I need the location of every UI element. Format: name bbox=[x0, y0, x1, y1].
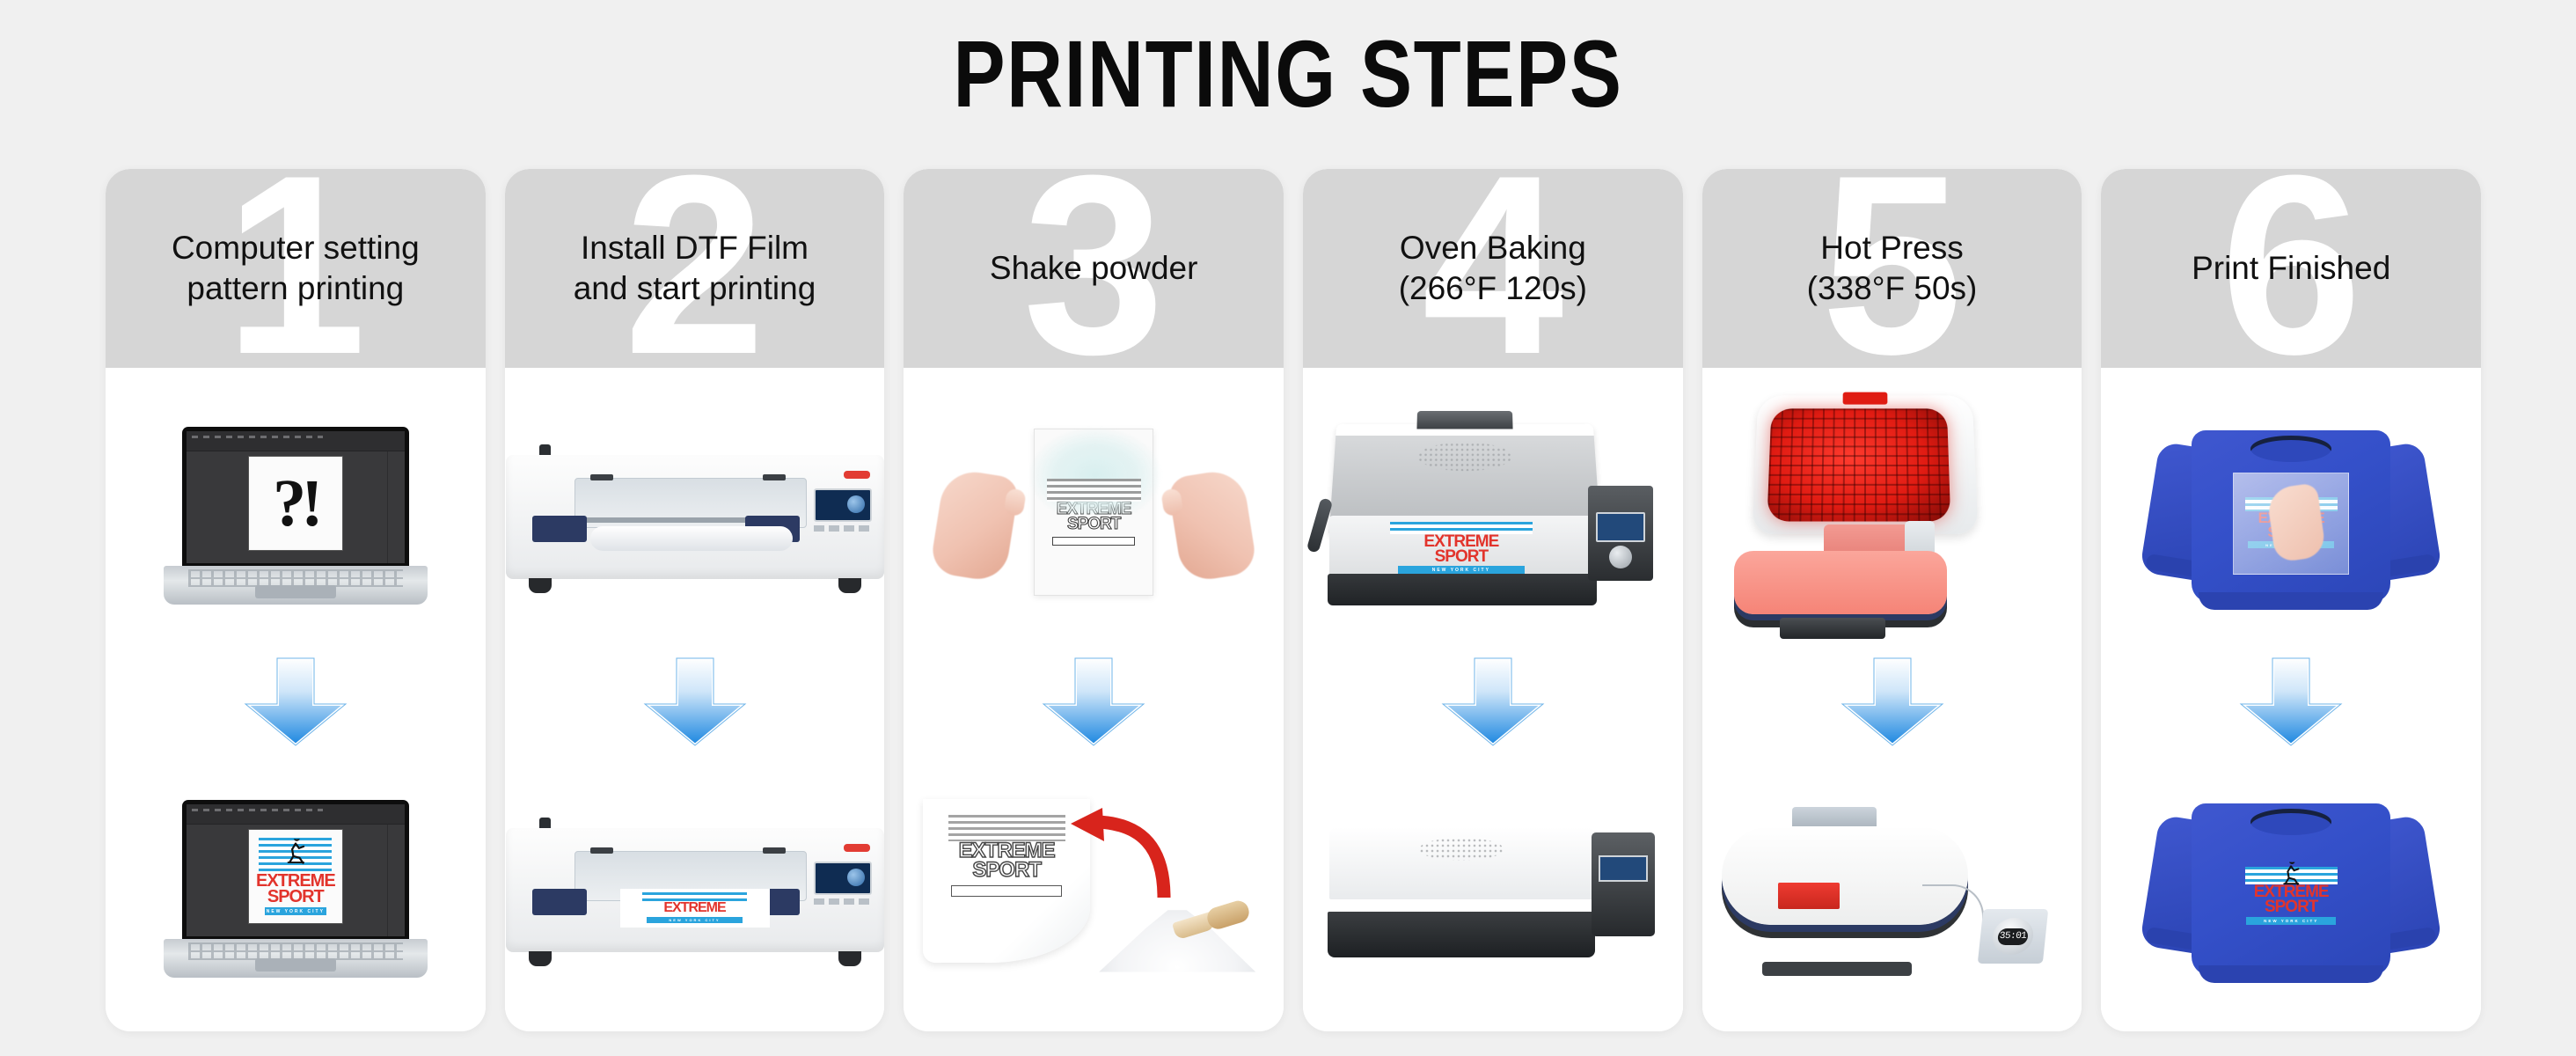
step-card-3: 3 Shake powder EXTREME SPORT bbox=[904, 169, 1284, 1031]
step-body-2: EXTREME NEW YORK CITY bbox=[505, 368, 885, 1031]
app-side-panel bbox=[387, 451, 405, 563]
heat-press-open-illustration bbox=[1702, 378, 2082, 653]
step-title-4: Oven Baking (266°F 120s) bbox=[1387, 228, 1599, 309]
shirt-finished-illustration: EXTREME SPORT NEW YORK CITY bbox=[2101, 752, 2481, 1026]
arrow-slot-1 bbox=[106, 653, 486, 752]
question-exclamation-icon: ?! bbox=[273, 466, 318, 542]
printer-side-panel-left-2 bbox=[532, 889, 587, 915]
shirt-hem bbox=[2199, 592, 2383, 610]
design-line2: SPORT bbox=[267, 889, 324, 905]
printer-emergency-button[interactable] bbox=[844, 471, 870, 479]
step-card-2: 2 Install DTF Film and start printing bbox=[505, 169, 885, 1031]
step-title-5: Hot Press (338°F 50s) bbox=[1795, 228, 1990, 309]
printer-buttons[interactable] bbox=[814, 525, 872, 532]
laptop-base-2 bbox=[164, 939, 428, 978]
printer-hinge-right bbox=[763, 474, 786, 480]
step-body-5: 35:01 bbox=[1702, 368, 2082, 1031]
printer-idle-illustration bbox=[505, 378, 885, 653]
oven-closed-base bbox=[1328, 912, 1595, 957]
printer-printing-illustration: EXTREME NEW YORK CITY bbox=[505, 752, 885, 1026]
oven-control-panel[interactable] bbox=[1588, 486, 1653, 581]
timer-display: 35:01 bbox=[1997, 928, 2029, 945]
printer-body bbox=[506, 455, 884, 579]
oven-base bbox=[1328, 574, 1597, 605]
step-header-4: 4 Oven Baking (266°F 120s) bbox=[1303, 169, 1683, 368]
laptop: ?! bbox=[164, 427, 428, 605]
design-line3-bar bbox=[951, 885, 1061, 897]
laptop-trackpad bbox=[255, 585, 336, 598]
heat-press-open bbox=[1725, 392, 2060, 639]
design-line2: SPORT bbox=[2265, 899, 2317, 914]
step-body-6: EXTREME SPORT NEW YORK CITY bbox=[2101, 368, 2481, 1031]
step-body-1: ?! bbox=[106, 368, 486, 1031]
printer-emergency-button-2[interactable] bbox=[844, 844, 870, 852]
right-hand bbox=[1167, 467, 1258, 583]
printer-hinge-left bbox=[590, 474, 613, 480]
dtf-film-sheet: EXTREME SPORT bbox=[1034, 429, 1153, 596]
down-arrow-icon bbox=[640, 656, 750, 748]
app-toolbar-2 bbox=[187, 804, 405, 825]
laptop-trackpad-2 bbox=[255, 958, 336, 972]
dtf-printer-2: EXTREME NEW YORK CITY bbox=[506, 812, 884, 966]
sweatshirt-finished: EXTREME SPORT NEW YORK CITY bbox=[2146, 789, 2436, 988]
press-heating-element bbox=[1767, 408, 1950, 521]
design-canvas-2: EXTREME SPORT NEW YORK CITY bbox=[249, 830, 342, 923]
step-card-4: 4 Oven Baking (266°F 120s) EXTREME SPORT… bbox=[1303, 169, 1683, 1031]
oven-closed-illustration bbox=[1303, 752, 1683, 1026]
printer-foot-right-2 bbox=[838, 951, 861, 966]
design-canvas: ?! bbox=[249, 457, 342, 550]
peeling-hand bbox=[2266, 482, 2327, 562]
design-line2: SPORT bbox=[1435, 549, 1488, 564]
app-toolbar bbox=[187, 431, 405, 451]
shirt-collar-2 bbox=[2250, 809, 2331, 835]
printer-side-panel-left bbox=[532, 516, 587, 542]
oven-closed-lid bbox=[1329, 827, 1593, 899]
design-line3-bar bbox=[1052, 537, 1135, 546]
press-head bbox=[1752, 395, 1978, 534]
red-curved-arrow-icon bbox=[1065, 806, 1171, 912]
printer-buttons-2[interactable] bbox=[814, 898, 872, 905]
shirt-peeling-illustration: EXTREME SPORT NEW YORK CITY bbox=[2101, 378, 2481, 653]
shirt-body-2: EXTREME SPORT NEW YORK CITY bbox=[2192, 803, 2390, 976]
oven-vent-mesh bbox=[1417, 442, 1512, 471]
press-status-light bbox=[1778, 883, 1840, 909]
scoop-handle bbox=[1205, 898, 1252, 931]
step-card-1: 1 Computer setting pattern printing ?! bbox=[106, 169, 486, 1031]
oven-display-2 bbox=[1599, 855, 1648, 882]
down-arrow-icon bbox=[2236, 656, 2346, 748]
press-platen bbox=[1734, 551, 1947, 614]
film-scene: EXTREME SPORT bbox=[918, 423, 1270, 608]
peeling-film bbox=[2233, 473, 2349, 575]
page-title: PRINTING STEPS bbox=[232, 26, 2345, 121]
heat-press-closed: 35:01 bbox=[1716, 805, 2068, 972]
design-line3: NEW YORK CITY bbox=[647, 917, 743, 923]
laptop-screen-2: EXTREME SPORT NEW YORK CITY bbox=[187, 804, 405, 936]
laptop-design-illustration: EXTREME SPORT NEW YORK CITY bbox=[106, 752, 486, 1026]
printer-foot-left bbox=[529, 578, 552, 593]
design-line1: EXTREME bbox=[663, 902, 725, 915]
step-header-3: 3 Shake powder bbox=[904, 169, 1284, 368]
down-arrow-icon bbox=[1038, 656, 1149, 748]
step-header-2: 2 Install DTF Film and start printing bbox=[505, 169, 885, 368]
printer-control-panel[interactable] bbox=[814, 488, 872, 522]
shirt-collar bbox=[2250, 436, 2331, 462]
steps-container: 1 Computer setting pattern printing ?! bbox=[106, 169, 2481, 1031]
step-card-5: 5 Hot Press (338°F 50s) bbox=[1702, 169, 2082, 1031]
oven-control-panel-2[interactable] bbox=[1592, 832, 1655, 936]
baking-oven-closed bbox=[1317, 810, 1669, 968]
arrow-slot-5 bbox=[1702, 653, 2082, 752]
step-header-5: 5 Hot Press (338°F 50s) bbox=[1702, 169, 2082, 368]
oven-vent-mesh-2 bbox=[1419, 838, 1504, 861]
step-body-4: EXTREME SPORT NEW YORK CITY bbox=[1303, 368, 1683, 1031]
down-arrow-icon bbox=[1837, 656, 1948, 748]
press-timer[interactable]: 35:01 bbox=[1977, 909, 2048, 964]
timer-dial[interactable]: 35:01 bbox=[1990, 918, 2034, 955]
arrow-slot-4 bbox=[1303, 653, 1683, 752]
step-title-6: Print Finished bbox=[2179, 248, 2403, 289]
design-line2: SPORT bbox=[1067, 517, 1120, 532]
laptop-question-illustration: ?! bbox=[106, 378, 486, 653]
printer-control-panel-2[interactable] bbox=[814, 862, 872, 895]
laptop-keyboard bbox=[188, 569, 403, 587]
down-arrow-icon bbox=[240, 656, 351, 748]
printer-foot-left-2 bbox=[529, 951, 552, 966]
design-line3: NEW YORK CITY bbox=[2246, 917, 2336, 925]
design-line2: SPORT bbox=[972, 861, 1041, 880]
laptop-screen: ?! bbox=[187, 431, 405, 563]
shirt-hem-2 bbox=[2199, 965, 2383, 983]
design-line3: NEW YORK CITY bbox=[265, 907, 326, 915]
down-arrow-icon bbox=[1438, 656, 1548, 748]
app-side-panel-2 bbox=[387, 825, 405, 936]
arrow-slot-2 bbox=[505, 653, 885, 752]
laptop-lid-2: EXTREME SPORT NEW YORK CITY bbox=[182, 800, 409, 939]
oven-open-illustration: EXTREME SPORT NEW YORK CITY bbox=[1303, 378, 1683, 653]
step-header-1: 1 Computer setting pattern printing bbox=[106, 169, 486, 368]
press-closed-stand bbox=[1762, 962, 1912, 976]
step-title-3: Shake powder bbox=[977, 248, 1211, 289]
printer-foot-right bbox=[838, 578, 861, 593]
step-card-6: 6 Print Finished EXTREME SPORT NEW YORK … bbox=[2101, 169, 2481, 1031]
left-hand bbox=[929, 467, 1021, 583]
step-body-3: EXTREME SPORT EXTREME SPORT bbox=[904, 368, 1284, 1031]
oven-plate: EXTREME SPORT NEW YORK CITY bbox=[1329, 516, 1593, 581]
laptop-lid: ?! bbox=[182, 427, 409, 566]
sweatshirt-peeling: EXTREME SPORT NEW YORK CITY bbox=[2146, 416, 2436, 615]
dtf-printer bbox=[506, 439, 884, 593]
baking-oven-open: EXTREME SPORT NEW YORK CITY bbox=[1317, 422, 1669, 611]
laptop-keyboard-2 bbox=[188, 942, 403, 960]
step-header-6: 6 Print Finished bbox=[2101, 169, 2481, 368]
shirt-print-2: EXTREME SPORT NEW YORK CITY bbox=[2237, 849, 2345, 942]
oven-display bbox=[1596, 512, 1645, 542]
hands-film-illustration: EXTREME SPORT bbox=[904, 378, 1284, 653]
printer-film-roller bbox=[590, 526, 793, 551]
shirt-body: EXTREME SPORT NEW YORK CITY bbox=[2192, 430, 2390, 603]
heat-press-closed-illustration: 35:01 bbox=[1702, 752, 2082, 1026]
oven-handle[interactable] bbox=[1416, 411, 1512, 429]
step-title-2: Install DTF Film and start printing bbox=[561, 228, 829, 309]
printer-body-2: EXTREME NEW YORK CITY bbox=[506, 828, 884, 952]
press-indicator-light bbox=[1842, 392, 1887, 405]
powder-illustration: EXTREME SPORT bbox=[904, 752, 1284, 1026]
step-title-1: Computer setting pattern printing bbox=[159, 228, 432, 309]
oven-dial[interactable] bbox=[1609, 546, 1632, 568]
press-stand bbox=[1780, 618, 1885, 639]
powder-scene: EXTREME SPORT bbox=[918, 799, 1270, 979]
arrow-slot-3 bbox=[904, 653, 1284, 752]
arrow-slot-6 bbox=[2101, 653, 2481, 752]
printer-hinge-left-2 bbox=[590, 847, 613, 854]
laptop-2: EXTREME SPORT NEW YORK CITY bbox=[164, 800, 428, 978]
printer-hinge-right-2 bbox=[763, 847, 786, 854]
laptop-base bbox=[164, 566, 428, 605]
printed-film-design: EXTREME NEW YORK CITY bbox=[620, 889, 770, 928]
timer-cable bbox=[1922, 884, 1984, 923]
